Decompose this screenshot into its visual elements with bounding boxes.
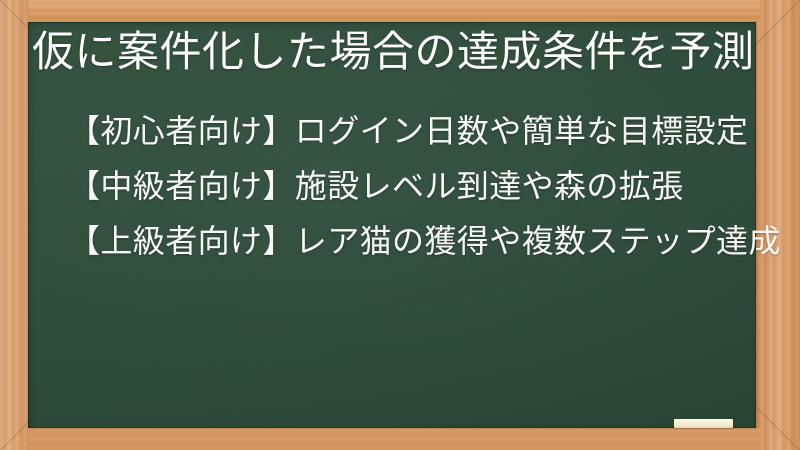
slide-content: 仮に案件化した場合の達成条件を予測 【初心者向け】ログイン日数や簡単な目標設定 … (0, 0, 800, 450)
bullet-item-intermediate: 【中級者向け】施設レベル到達や森の拡張 (68, 159, 758, 214)
slide-title: 仮に案件化した場合の達成条件を予測 (32, 27, 755, 77)
chalk-stick (674, 419, 733, 428)
bullet-list: 【初心者向け】ログイン日数や簡単な目標設定 【中級者向け】施設レベル到達や森の拡… (68, 104, 758, 269)
bullet-item-advanced: 【上級者向け】レア猫の獲得や複数ステップ達成 (68, 214, 758, 269)
bullet-item-beginner: 【初心者向け】ログイン日数や簡単な目標設定 (68, 104, 758, 159)
blackboard-slide: 仮に案件化した場合の達成条件を予測 【初心者向け】ログイン日数や簡単な目標設定 … (0, 0, 800, 450)
